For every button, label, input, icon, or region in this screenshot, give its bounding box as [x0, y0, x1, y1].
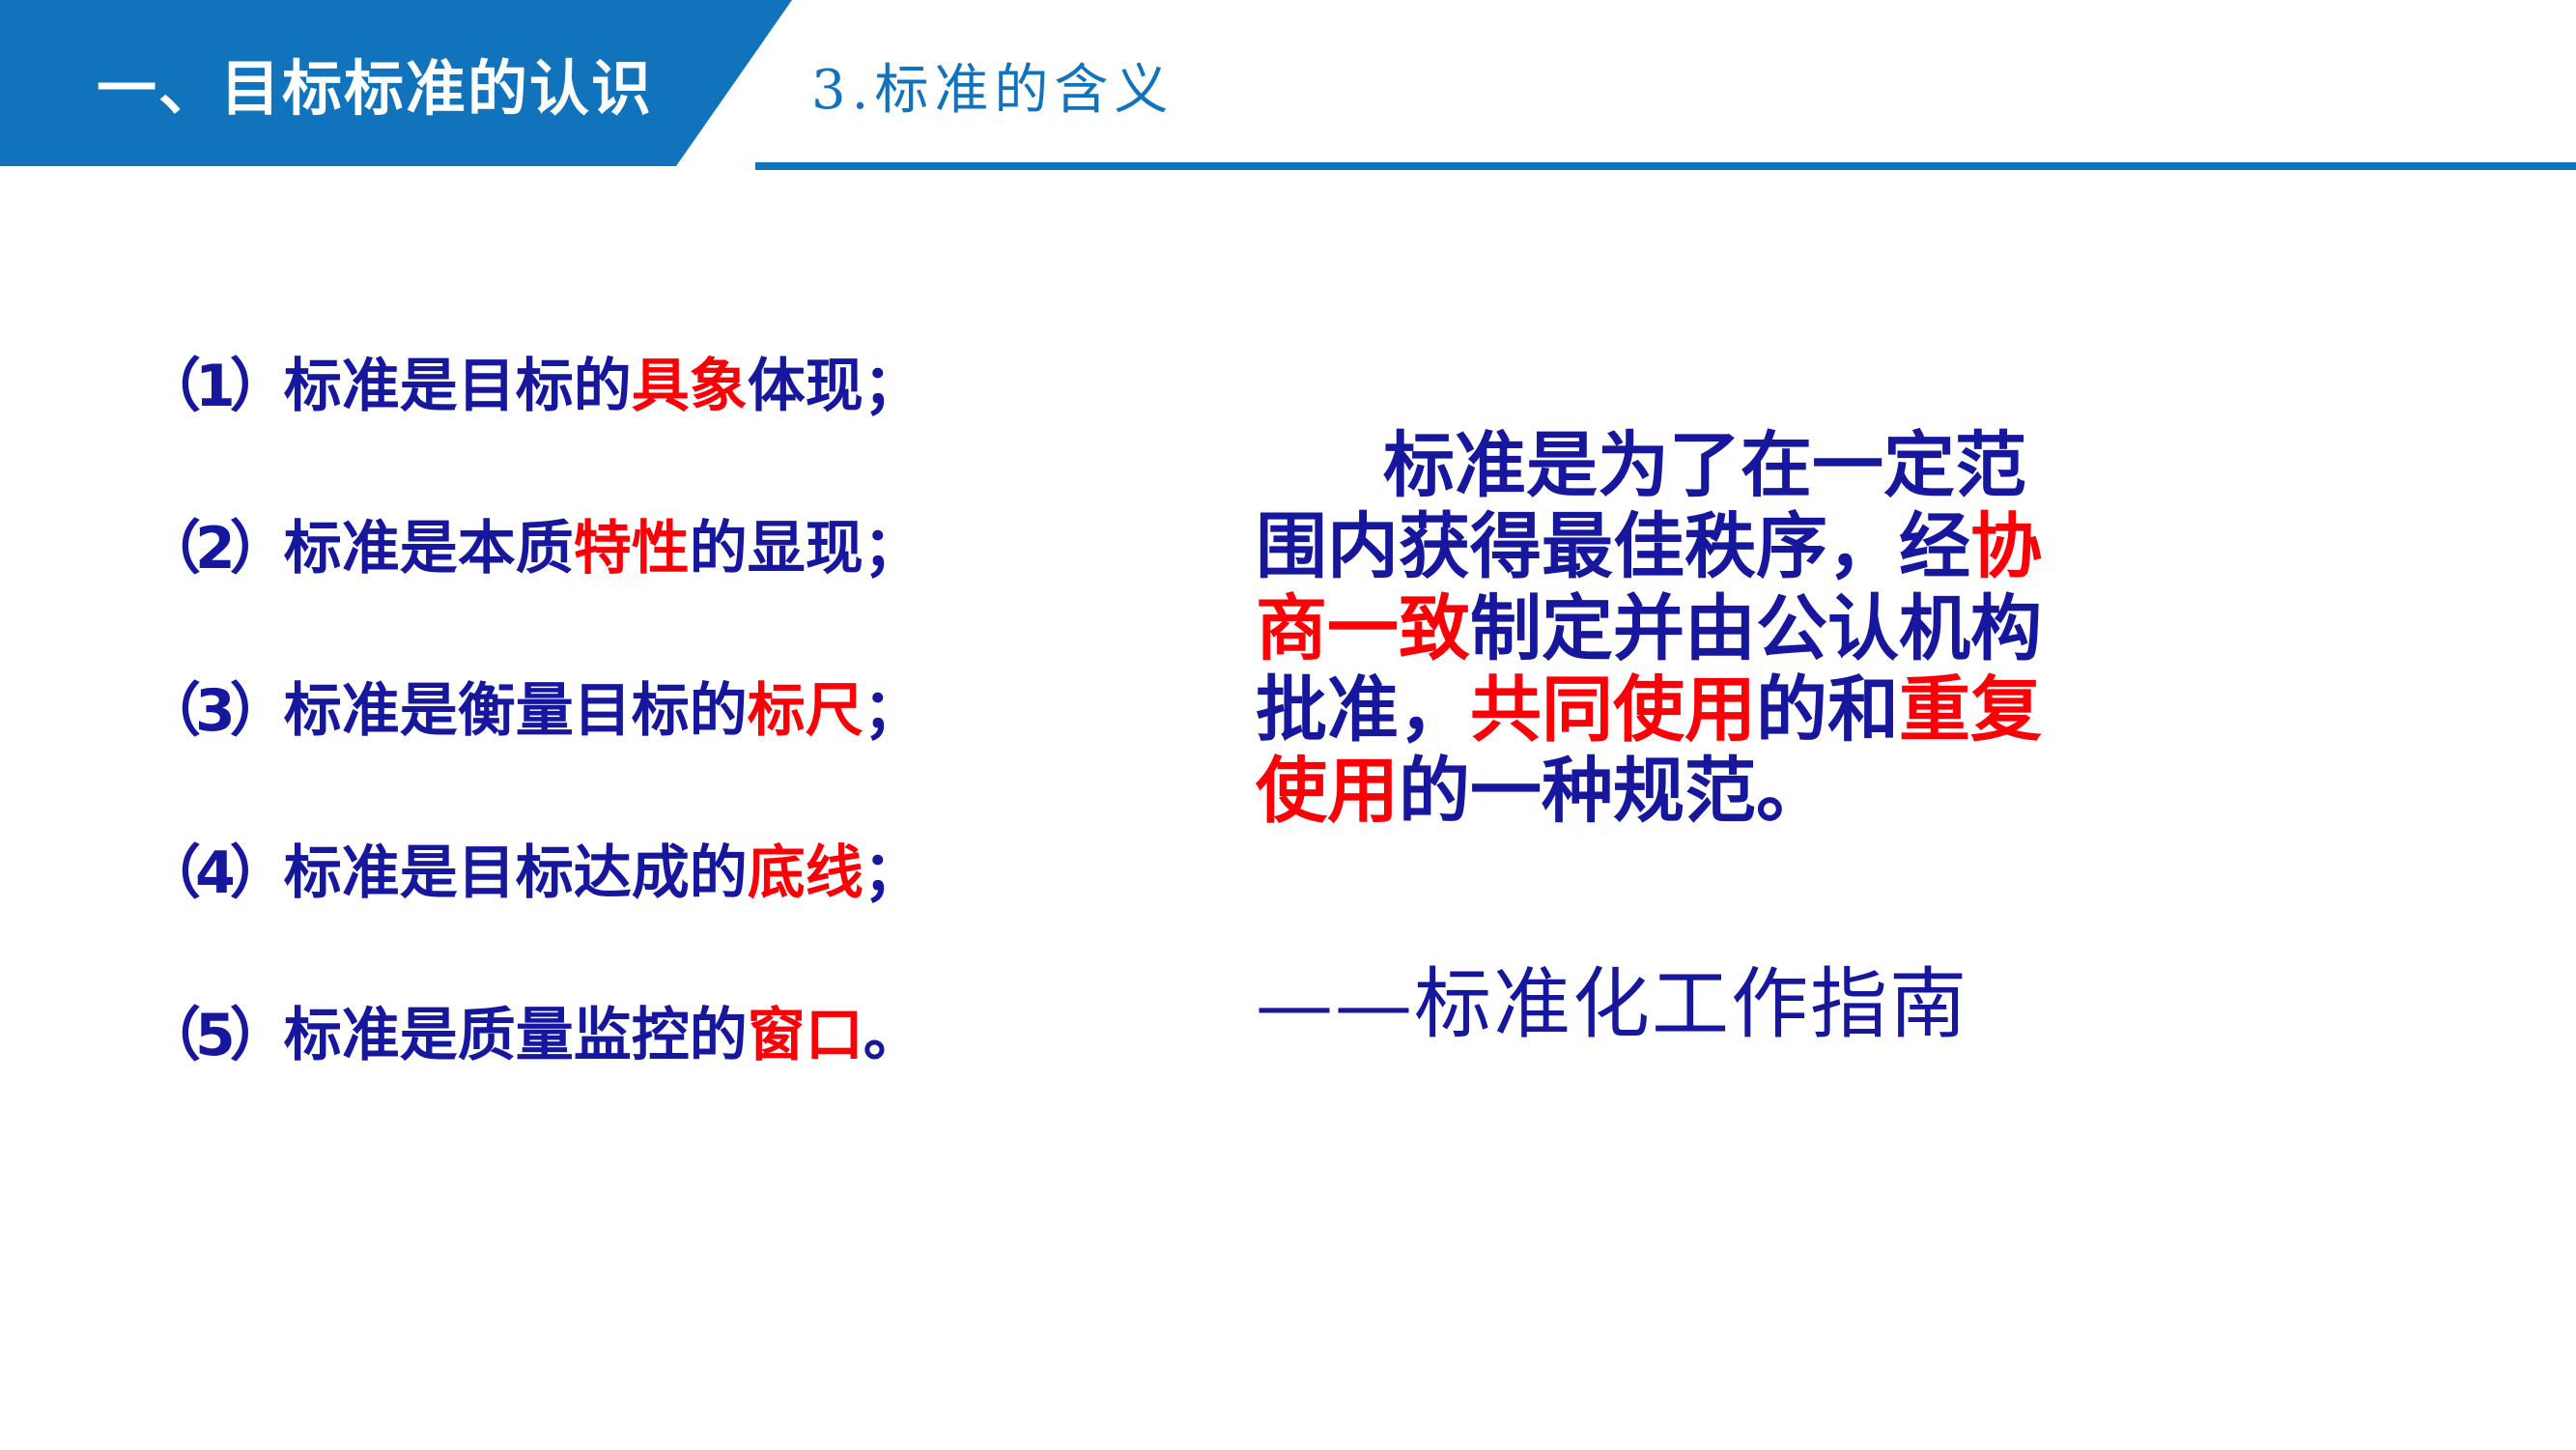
statement-text-5b: 。: [863, 1002, 921, 1069]
header-section-title: 一、目标标准的认识: [97, 29, 715, 137]
statement-item-4: （4）标准是目标达成的底线；: [143, 844, 1215, 902]
header-divider-rule: [755, 162, 2576, 170]
slide-root: 一、目标标准的认识 3.标准的含义 （1）标准是目标的具象体现； （2）标准是本…: [0, 0, 2576, 1450]
statement-highlight-5: 窗口: [748, 1002, 863, 1069]
statement-highlight-4: 底线: [748, 839, 863, 907]
slide-body: （1）标准是目标的具象体现； （2）标准是本质特性的显现； （3）标准是衡量目标…: [0, 193, 2576, 1450]
statement-text-3b: ；: [863, 677, 921, 745]
definition-line-5: 使用的一种规范。: [1256, 751, 2444, 832]
statement-item-1: （1）标准是目标的具象体现；: [143, 357, 1215, 415]
statement-item-2: （2）标准是本质特性的显现；: [143, 520, 1215, 578]
definition-line-2-highlight: 协: [1970, 505, 2042, 588]
statement-text-4a: 标准是目标达成的: [284, 839, 748, 907]
statement-text-1a: 标准是目标的: [284, 353, 632, 420]
statement-text-2a: 标准是本质: [284, 515, 574, 583]
statement-text-4b: ；: [863, 839, 921, 907]
definition-quote-block: 标准是为了在一定范 围内获得最佳秩序，经协 商一致制定并由公认机构 批准，共同使…: [1256, 425, 2444, 1043]
definition-line-3: 商一致制定并由公认机构: [1256, 588, 2444, 669]
definition-line-2-seg-1: 围内获得最佳秩序，经: [1256, 505, 1970, 588]
definition-line-4-seg-1: 批准，: [1256, 668, 1470, 752]
definition-line-4-highlight-2: 重复: [1899, 668, 2042, 752]
statement-highlight-1: 具象: [632, 353, 748, 420]
statement-text-2b: 的显现；: [690, 515, 921, 583]
definition-line-4-highlight-1: 共同使用: [1470, 668, 1756, 752]
definition-line-4-seg-3: 的和: [1756, 668, 1899, 752]
statement-number-1: （1）: [143, 353, 282, 420]
statement-highlight-2: 特性: [574, 515, 690, 583]
statement-number-5: （5）: [143, 1002, 282, 1069]
header-subsection-title: 3.标准的含义: [811, 46, 1174, 125]
statement-text-3a: 标准是衡量目标的: [284, 677, 748, 745]
statement-number-4: （4）: [143, 839, 282, 907]
statement-number-3: （3）: [143, 677, 282, 745]
definition-line-5-seg-2: 的一种规范。: [1399, 750, 1827, 833]
statement-item-5: （5）标准是质量监控的窗口。: [143, 1007, 1215, 1065]
statement-text-1b: 体现；: [748, 353, 921, 420]
definition-line-3-seg-2: 制定并由公认机构: [1470, 587, 2042, 670]
statement-item-3: （3）标准是衡量目标的标尺；: [143, 682, 1215, 740]
definition-line-1: 标准是为了在一定范: [1256, 425, 2444, 506]
definition-line-3-highlight: 商一致: [1256, 587, 1470, 670]
definition-line-5-highlight: 使用: [1256, 750, 1399, 833]
statement-list: （1）标准是目标的具象体现； （2）标准是本质特性的显现； （3）标准是衡量目标…: [143, 357, 1215, 1065]
definition-line-2: 围内获得最佳秩序，经协: [1256, 506, 2444, 587]
slide-header: 一、目标标准的认识 3.标准的含义: [0, 0, 2576, 193]
definition-text: 标准是为了在一定范 围内获得最佳秩序，经协 商一致制定并由公认机构 批准，共同使…: [1256, 425, 2444, 833]
definition-line-1-seg-1: 标准是为了在一定范: [1383, 424, 2026, 507]
statement-number-2: （2）: [143, 515, 282, 583]
definition-attribution: ——标准化工作指南: [1256, 966, 2444, 1043]
statement-text-5a: 标准是质量监控的: [284, 1002, 748, 1069]
statement-highlight-3: 标尺: [748, 677, 863, 745]
definition-line-4: 批准，共同使用的和重复: [1256, 669, 2444, 751]
